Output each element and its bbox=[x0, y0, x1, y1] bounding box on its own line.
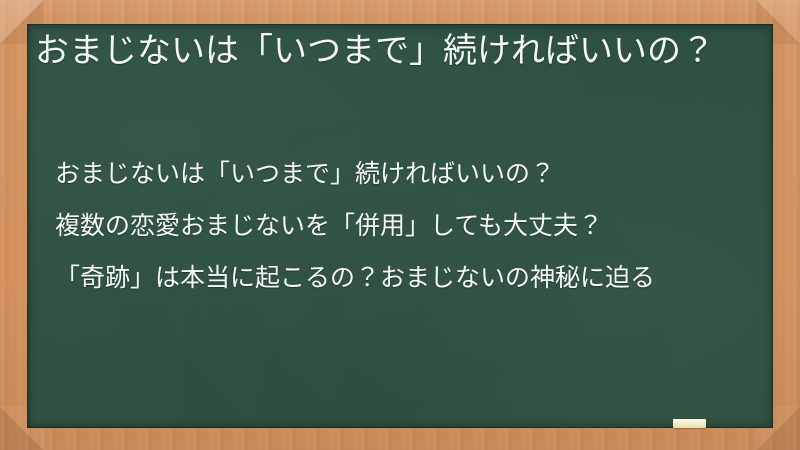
chalkboard-slide: おまじないは「いつまで」続ければいいの？ おまじないは「いつまで」続ければいいの… bbox=[0, 0, 800, 450]
page-title: おまじないは「いつまで」続ければいいの？ bbox=[35, 27, 761, 75]
list-item: 複数の恋愛おまじないを「併用」しても大丈夫？ bbox=[35, 200, 751, 252]
chalkboard-content: おまじないは「いつまで」続ければいいの？ おまじないは「いつまで」続ければいいの… bbox=[27, 24, 773, 428]
chalk-stick bbox=[673, 419, 706, 428]
topic-list: おまじないは「いつまで」続ければいいの？ 複数の恋愛おまじないを「併用」しても大… bbox=[35, 148, 751, 304]
list-item: 「奇跡」は本当に起こるの？おまじないの神秘に迫る bbox=[35, 252, 751, 304]
chalkboard-surface: おまじないは「いつまで」続ければいいの？ おまじないは「いつまで」続ければいいの… bbox=[27, 24, 773, 428]
list-item: おまじないは「いつまで」続ければいいの？ bbox=[35, 148, 751, 200]
